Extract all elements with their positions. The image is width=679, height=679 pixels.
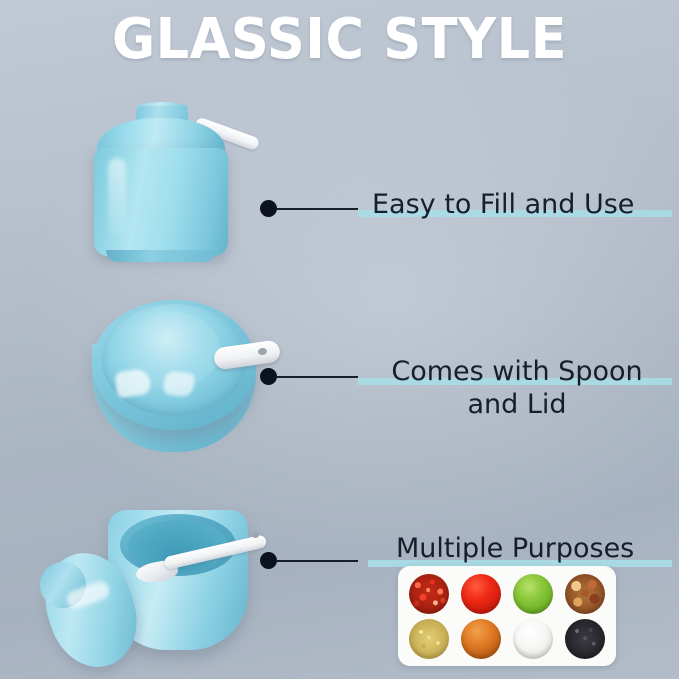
spice-sample-chili-flakes	[409, 574, 449, 614]
page-title: GLASSIC STYLE	[20, 8, 658, 72]
jar-foot	[106, 250, 216, 262]
spice-sample-green-powder	[513, 574, 553, 614]
spice-sample-white-powder	[513, 619, 553, 659]
callout-dot	[260, 552, 277, 569]
callout-dot	[260, 368, 277, 385]
callout-dot	[260, 200, 277, 217]
gloss-highlight	[108, 158, 126, 238]
spice-sample-red-paste	[461, 574, 501, 614]
callout-label-easy-to-fill: Easy to Fill and Use	[372, 188, 634, 221]
callout-leader-line	[276, 208, 358, 210]
callout-label-line-1: Comes with Spoon	[391, 356, 642, 387]
product-photo-jar-closed-side-view	[78, 90, 258, 265]
spice-sample-orange-powder	[461, 619, 501, 659]
callout-label-comes-with-spoon-and-lid: Comes with Spoon and Lid	[358, 355, 676, 421]
spoon-hole	[252, 532, 259, 538]
product-infographic: GLASSIC STYLE Easy to Fi	[0, 0, 679, 679]
spice-sample-panel	[398, 566, 616, 666]
callout-label-multiple-purposes: Multiple Purposes	[396, 532, 634, 565]
spice-sample-yellow-seeds	[409, 619, 449, 659]
callout-leader-line	[276, 560, 358, 562]
callout-label-line-2: and Lid	[467, 389, 566, 420]
spice-sample-black-seeds	[565, 619, 605, 659]
callout-leader-line	[276, 376, 358, 378]
product-photo-jar-open-lid-beside	[30, 500, 290, 676]
spice-sample-brown-chunks	[565, 574, 605, 614]
